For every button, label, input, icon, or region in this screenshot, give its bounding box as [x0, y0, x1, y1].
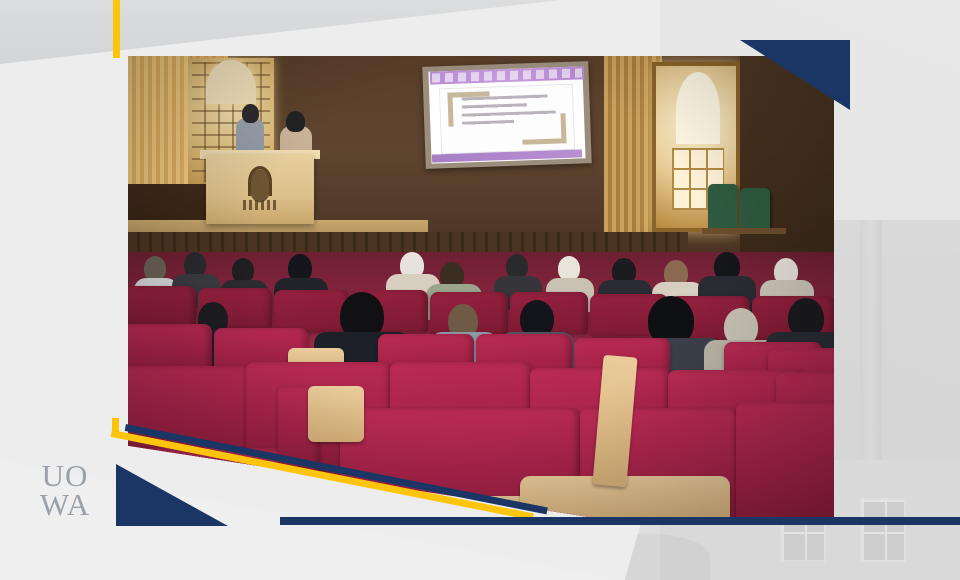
auditorium-seat	[128, 286, 196, 326]
banner-stage: UO WA	[0, 0, 960, 580]
green-side-chair	[708, 184, 738, 228]
wood-slat-wall-left-bright	[128, 56, 190, 186]
wooden-tablet-arm-desk	[308, 386, 364, 442]
uowa-logo: UO WA	[26, 458, 104, 524]
second-speaker-head	[286, 111, 305, 132]
podium-emblem-text	[243, 200, 277, 210]
podium-emblem-arch	[248, 166, 272, 196]
side-table	[702, 228, 786, 234]
auditorium-seat	[274, 290, 350, 332]
uowa-logo-line2: WA	[40, 491, 90, 520]
auditorium-seat	[736, 402, 834, 520]
speaker-head	[242, 104, 259, 123]
yellow-vertical-rule	[113, 0, 120, 58]
panel-right-arch	[676, 72, 720, 144]
watermark-window	[860, 498, 906, 562]
yellow-diagonal-rule-cap	[112, 418, 119, 434]
green-side-chair	[740, 188, 770, 230]
